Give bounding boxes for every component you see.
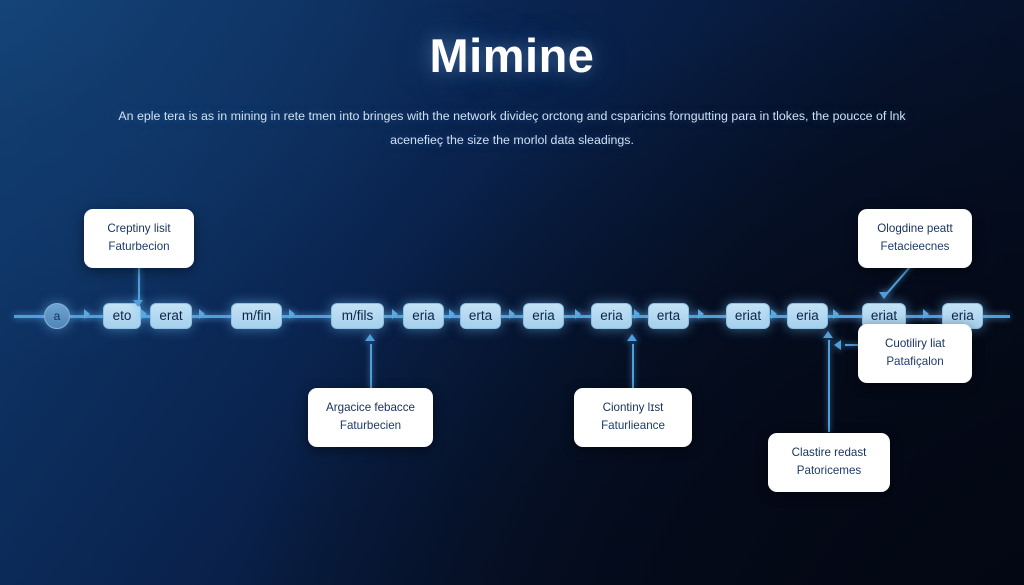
timeline-node-label: erta <box>469 308 492 323</box>
leader-head-creptiny <box>133 300 143 307</box>
timeline-node-label: eriat <box>871 308 897 323</box>
leader-head-ologdine <box>879 292 889 299</box>
leader-line-ciontiny <box>632 344 634 390</box>
callout-clastire[interactable]: Clastire redastPatoricemes <box>768 433 890 492</box>
timeline-node-label: eria <box>951 308 974 323</box>
timeline-arrow-4-icon <box>392 309 398 319</box>
timeline-node-label: erat <box>159 308 182 323</box>
callout-line-1: Ologdine peatt <box>872 220 958 238</box>
timeline-node-label: eria <box>600 308 623 323</box>
timeline-arrow-5-icon <box>449 309 455 319</box>
timeline-node-5[interactable]: eria <box>403 303 444 329</box>
callout-line-2: Patafiçalon <box>872 353 958 371</box>
callout-line-1: Cuotiliry liat <box>872 335 958 353</box>
callout-line-2: Faturbecion <box>98 238 180 256</box>
callout-line-2: Patoricemes <box>782 462 876 480</box>
leader-head-clastire <box>823 331 833 338</box>
timeline-node-label: m/fils <box>342 308 374 323</box>
timeline-node-label: eria <box>532 308 555 323</box>
timeline-node-9[interactable]: erta <box>648 303 689 329</box>
leader-head-ciontiny <box>627 334 637 341</box>
timeline-arrow-6-icon <box>509 309 515 319</box>
timeline-node-label: eriat <box>735 308 761 323</box>
timeline-arrow-8-icon <box>634 309 640 319</box>
timeline-node-0[interactable]: a <box>44 303 70 329</box>
callout-line-1: Clastire redast <box>782 444 876 462</box>
diagram-canvas: Mimine An eple tera is as in mining in r… <box>0 0 1024 585</box>
timeline-arrow-12-icon <box>923 309 929 319</box>
callout-line-1: Creptiny lisit <box>98 220 180 238</box>
callout-line-2: Fetacieecnes <box>872 238 958 256</box>
timeline-node-label: erta <box>657 308 680 323</box>
page-title: Mimine <box>0 28 1024 83</box>
timeline-arrow-9-icon <box>698 309 704 319</box>
leader-line-clastire <box>828 340 830 432</box>
callout-ciontiny[interactable]: Ciontiny lɪstFaturlieance <box>574 388 692 447</box>
leader-line-argacice <box>370 344 372 390</box>
timeline-arrow-1-icon <box>141 309 147 319</box>
timeline-arrow-0-icon <box>84 309 90 319</box>
timeline-arrow-10-icon <box>771 309 777 319</box>
timeline-node-4[interactable]: m/fils <box>331 303 384 329</box>
callout-line-2: Faturlieance <box>588 417 678 435</box>
page-subtitle: An eple tera is as in mining in rete tme… <box>118 104 906 152</box>
leader-head-cuotiliry <box>834 340 841 350</box>
timeline-node-7[interactable]: eria <box>523 303 564 329</box>
timeline-node-label: eria <box>412 308 435 323</box>
timeline-arrow-7-icon <box>575 309 581 319</box>
callout-line-1: Argacice febacce <box>322 399 419 417</box>
leader-head-argacice <box>365 334 375 341</box>
callout-line-1: Ciontiny lɪst <box>588 399 678 417</box>
callout-line-2: Faturbecien <box>322 417 419 435</box>
timeline-node-label: m/fin <box>242 308 271 323</box>
timeline-node-label: eto <box>113 308 132 323</box>
timeline-node-3[interactable]: m/fin <box>231 303 282 329</box>
subtitle-line-1: An eple tera is as in mining in rete tme… <box>118 109 808 123</box>
callout-cuotiliry[interactable]: Cuotiliry liatPatafiçalon <box>858 324 972 383</box>
timeline-node-2[interactable]: erat <box>150 303 192 329</box>
timeline-node-label: a <box>54 309 61 323</box>
timeline-node-8[interactable]: eria <box>591 303 632 329</box>
timeline-arrow-3-icon <box>289 309 295 319</box>
timeline-arrow-2-icon <box>199 309 205 319</box>
timeline-node-label: eria <box>796 308 819 323</box>
timeline-node-11[interactable]: eria <box>787 303 828 329</box>
timeline-node-6[interactable]: erta <box>460 303 501 329</box>
callout-ologdine[interactable]: Ologdine peattFetacieecnes <box>858 209 972 268</box>
timeline-arrow-11-icon <box>833 309 839 319</box>
callout-creptiny[interactable]: Creptiny lisitFaturbecion <box>84 209 194 268</box>
timeline-node-10[interactable]: eriat <box>726 303 770 329</box>
callout-argacice[interactable]: Argacice febacceFaturbecien <box>308 388 433 447</box>
